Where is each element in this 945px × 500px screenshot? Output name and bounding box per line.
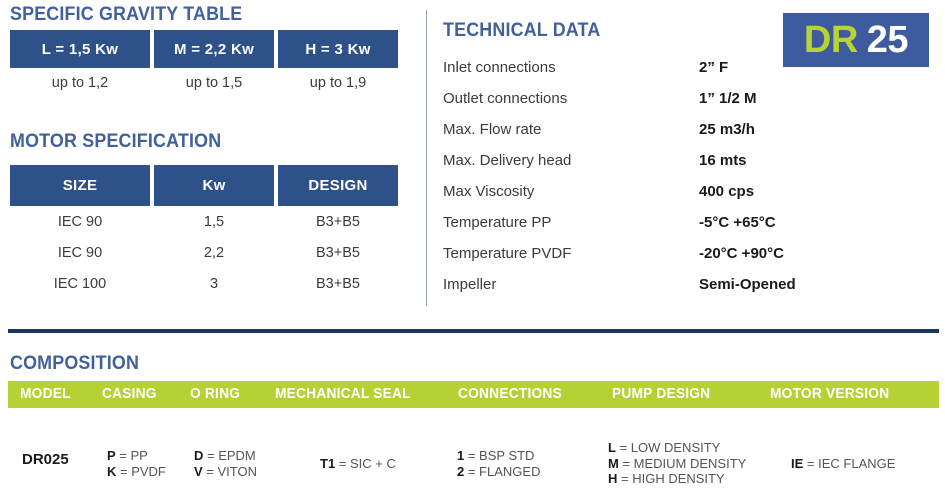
- desc: = LOW DENSITY: [616, 440, 720, 455]
- technical-data-row: Temperature PVDF -20°C +90°C: [443, 238, 863, 269]
- list-item: H = HIGH DENSITY: [608, 471, 746, 487]
- badge-number: 25: [867, 21, 908, 59]
- desc: = PVDF: [116, 464, 166, 479]
- desc: = FLANGED: [464, 464, 540, 479]
- spec-value: 25 m3/h: [699, 121, 755, 138]
- technical-data-list: Inlet connections 2” F Outlet connection…: [443, 52, 863, 300]
- desc: = SIC + C: [335, 456, 396, 471]
- desc: = PP: [116, 448, 148, 463]
- column-header-connections: CONNECTIONS: [458, 381, 562, 408]
- product-code-badge: DR 25: [783, 13, 929, 67]
- composition-header-bar: MODEL CASING O RING MECHANICAL SEAL CONN…: [8, 381, 939, 408]
- column-divider: [426, 10, 427, 306]
- spec-value: Semi-Opened: [699, 276, 796, 293]
- code: P: [107, 448, 116, 463]
- desc: = HIGH DENSITY: [617, 471, 724, 486]
- table-row: IEC 100 3 B3+B5: [10, 268, 398, 299]
- spec-label: Max Viscosity: [443, 183, 699, 200]
- technical-data-row: Max. Delivery head 16 mts: [443, 145, 863, 176]
- list-item: 1 = BSP STD: [457, 448, 540, 464]
- spec-label: Max. Flow rate: [443, 121, 699, 138]
- list-item: L = LOW DENSITY: [608, 440, 746, 456]
- cell-kw: 2,2: [154, 237, 274, 268]
- composition-connections-list: 1 = BSP STD 2 = FLANGED: [457, 448, 540, 479]
- list-item: IE = IEC FLANGE: [791, 456, 895, 472]
- section-divider: [8, 329, 939, 333]
- composition-motor-version-list: IE = IEC FLANGE: [791, 456, 895, 472]
- code: D: [194, 448, 203, 463]
- cell-design: B3+B5: [278, 237, 398, 268]
- desc: = IEC FLANGE: [803, 456, 895, 471]
- list-item: M = MEDIUM DENSITY: [608, 456, 746, 472]
- specific-gravity-title: SPECIFIC GRAVITY TABLE: [10, 4, 242, 26]
- code: IE: [791, 456, 803, 471]
- table-row: IEC 90 1,5 B3+B5: [10, 206, 398, 237]
- cell-size: IEC 100: [10, 268, 150, 299]
- table-row: up to 1,2 up to 1,5 up to 1,9: [10, 68, 398, 98]
- list-item: K = PVDF: [107, 464, 166, 480]
- table-body: IEC 90 1,5 B3+B5 IEC 90 2,2 B3+B5 IEC 10…: [10, 206, 398, 299]
- composition-pump-design-list: L = LOW DENSITY M = MEDIUM DENSITY H = H…: [608, 440, 746, 487]
- code: K: [107, 464, 116, 479]
- list-item: 2 = FLANGED: [457, 464, 540, 480]
- motor-specification-title: MOTOR SPECIFICATION: [10, 131, 221, 153]
- column-header-kw: Kw: [154, 165, 274, 206]
- desc: = EPDM: [203, 448, 255, 463]
- cell-sg-m: up to 1,5: [154, 68, 274, 98]
- code: M: [608, 456, 619, 471]
- list-item: P = PP: [107, 448, 166, 464]
- datasheet-page: SPECIFIC GRAVITY TABLE L = 1,5 Kw M = 2,…: [0, 0, 945, 500]
- column-header-m: M = 2,2 Kw: [154, 30, 274, 68]
- cell-size: IEC 90: [10, 206, 150, 237]
- cell-size: IEC 90: [10, 237, 150, 268]
- desc: = VITON: [203, 464, 257, 479]
- desc: = MEDIUM DENSITY: [619, 456, 747, 471]
- table-body: up to 1,2 up to 1,5 up to 1,9: [10, 68, 398, 98]
- column-header-l: L = 1,5 Kw: [10, 30, 150, 68]
- spec-label: Temperature PVDF: [443, 245, 699, 262]
- composition-casing-list: P = PP K = PVDF: [107, 448, 166, 479]
- list-item: V = VITON: [194, 464, 257, 480]
- code: T1: [320, 456, 335, 471]
- technical-data-row: Max. Flow rate 25 m3/h: [443, 114, 863, 145]
- spec-value: -20°C +90°C: [699, 245, 784, 262]
- code: V: [194, 464, 203, 479]
- table-header-row: SIZE Kw DESIGN: [10, 165, 398, 206]
- composition-mechanical-seal-list: T1 = SIC + C: [320, 456, 396, 472]
- column-header-mechanical-seal: MECHANICAL SEAL: [275, 381, 411, 408]
- cell-kw: 1,5: [154, 206, 274, 237]
- list-item: D = EPDM: [194, 448, 257, 464]
- table-row: IEC 90 2,2 B3+B5: [10, 237, 398, 268]
- specific-gravity-table: L = 1,5 Kw M = 2,2 Kw H = 3 Kw up to 1,2…: [10, 30, 398, 98]
- cell-sg-l: up to 1,2: [10, 68, 150, 98]
- column-header-motor-version: MOTOR VERSION: [770, 381, 889, 408]
- spec-label: Outlet connections: [443, 90, 699, 107]
- table-header-row: L = 1,5 Kw M = 2,2 Kw H = 3 Kw: [10, 30, 398, 68]
- technical-data-row: Impeller Semi-Opened: [443, 269, 863, 300]
- spec-label: Impeller: [443, 276, 699, 293]
- column-header-pump-design: PUMP DESIGN: [612, 381, 710, 408]
- column-header-design: DESIGN: [278, 165, 398, 206]
- spec-label: Inlet connections: [443, 59, 699, 76]
- spec-value: 400 cps: [699, 183, 754, 200]
- spec-label: Temperature PP: [443, 214, 699, 231]
- composition-model-value: DR025: [22, 452, 69, 468]
- column-header-model: MODEL: [20, 381, 71, 408]
- spec-value: -5°C +65°C: [699, 214, 776, 231]
- cell-design: B3+B5: [278, 206, 398, 237]
- technical-data-row: Max Viscosity 400 cps: [443, 176, 863, 207]
- cell-sg-h: up to 1,9: [278, 68, 398, 98]
- column-header-size: SIZE: [10, 165, 150, 206]
- cell-kw: 3: [154, 268, 274, 299]
- spec-value: 1” 1/2 M: [699, 90, 757, 107]
- spec-value: 2” F: [699, 59, 728, 76]
- column-header-h: H = 3 Kw: [278, 30, 398, 68]
- badge-prefix: DR: [804, 21, 858, 59]
- desc: = BSP STD: [464, 448, 534, 463]
- column-header-casing: CASING: [102, 381, 157, 408]
- spec-label: Max. Delivery head: [443, 152, 699, 169]
- motor-specification-table: SIZE Kw DESIGN IEC 90 1,5 B3+B5 IEC 90 2…: [10, 165, 398, 299]
- list-item: T1 = SIC + C: [320, 456, 396, 472]
- cell-design: B3+B5: [278, 268, 398, 299]
- spec-value: 16 mts: [699, 152, 747, 169]
- column-header-o-ring: O RING: [190, 381, 240, 408]
- technical-data-row: Outlet connections 1” 1/2 M: [443, 83, 863, 114]
- technical-data-row: Temperature PP -5°C +65°C: [443, 207, 863, 238]
- code: L: [608, 440, 616, 455]
- composition-title: COMPOSITION: [10, 353, 139, 375]
- composition-o-ring-list: D = EPDM V = VITON: [194, 448, 257, 479]
- technical-data-title: TECHNICAL DATA: [443, 20, 600, 42]
- code: H: [608, 471, 617, 486]
